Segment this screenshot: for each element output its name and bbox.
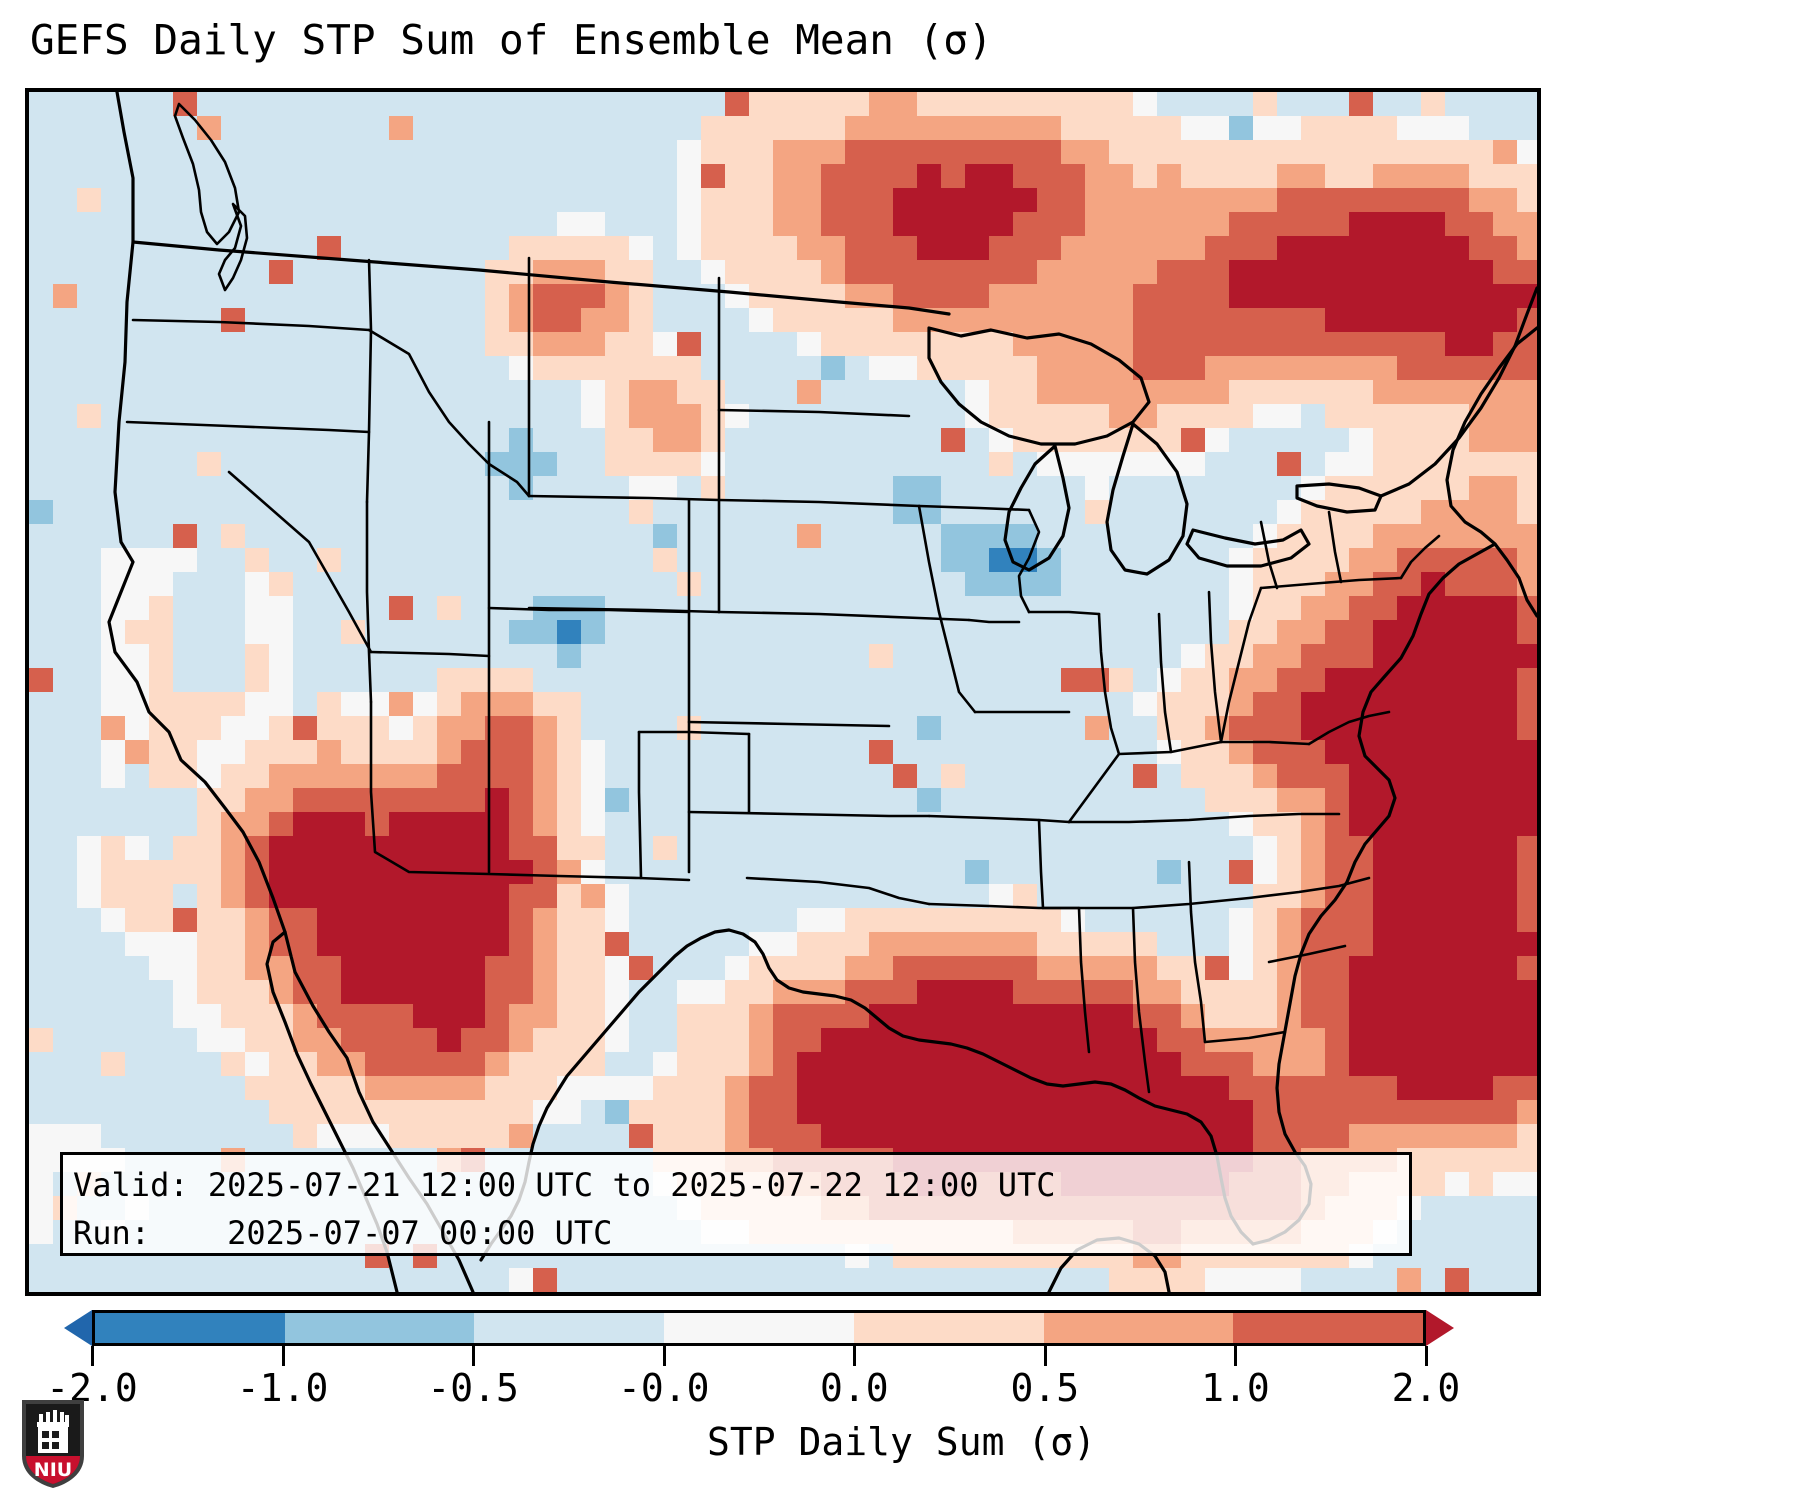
colorbar-tick-label-5: 0.5 xyxy=(1011,1366,1080,1410)
colorbar-tick-label-3: -0.0 xyxy=(618,1366,710,1410)
niu-logo: NIU xyxy=(16,1390,90,1490)
colorbar-tick-7 xyxy=(1425,1346,1428,1366)
colorbar-tick-label-4: 0.0 xyxy=(820,1366,889,1410)
colorbar-band-6 xyxy=(1233,1313,1423,1343)
colorbar-tick-6 xyxy=(1234,1346,1237,1366)
colorbar-band-5 xyxy=(1044,1313,1234,1343)
colorbar-tick-label-6: 1.0 xyxy=(1201,1366,1270,1410)
colorbar-band-1 xyxy=(285,1313,475,1343)
colorbar-tick-3 xyxy=(663,1346,666,1366)
geography-outlines xyxy=(29,92,1537,1292)
colorbar-tick-label-7: 2.0 xyxy=(1392,1366,1461,1410)
colorbar-band-3 xyxy=(664,1313,854,1343)
colorbar[interactable] xyxy=(64,1310,1454,1346)
colorbar-bands xyxy=(92,1310,1426,1346)
colorbar-tick-1 xyxy=(282,1346,285,1366)
colorbar-over-arrow xyxy=(1426,1310,1454,1346)
colorbar-tick-2 xyxy=(472,1346,475,1366)
colorbar-band-0 xyxy=(95,1313,285,1343)
info-box: Valid: 2025-07-21 12:00 UTC to 2025-07-2… xyxy=(60,1152,1412,1256)
map-plot-area xyxy=(25,88,1541,1296)
colorbar-under-arrow xyxy=(64,1310,92,1346)
colorbar-ticks xyxy=(64,1346,1454,1366)
colorbar-tick-labels: -2.0-1.0-0.5-0.00.00.51.02.0 xyxy=(0,1366,1803,1418)
page-title: GEFS Daily STP Sum of Ensemble Mean (σ) xyxy=(30,16,993,64)
colorbar-axis-label: STP Daily Sum (σ) xyxy=(0,1420,1803,1464)
info-valid-line: Valid: 2025-07-21 12:00 UTC to 2025-07-2… xyxy=(73,1161,1399,1209)
svg-text:NIU: NIU xyxy=(34,1459,72,1481)
colorbar-tick-label-1: -1.0 xyxy=(237,1366,329,1410)
colorbar-band-4 xyxy=(854,1313,1044,1343)
colorbar-tick-5 xyxy=(1044,1346,1047,1366)
colorbar-tick-0 xyxy=(91,1346,94,1366)
map-canvas xyxy=(29,92,1537,1292)
colorbar-tick-4 xyxy=(853,1346,856,1366)
info-run-line: Run: 2025-07-07 00:00 UTC xyxy=(73,1209,1399,1257)
colorbar-tick-label-2: -0.5 xyxy=(427,1366,519,1410)
colorbar-band-2 xyxy=(474,1313,664,1343)
